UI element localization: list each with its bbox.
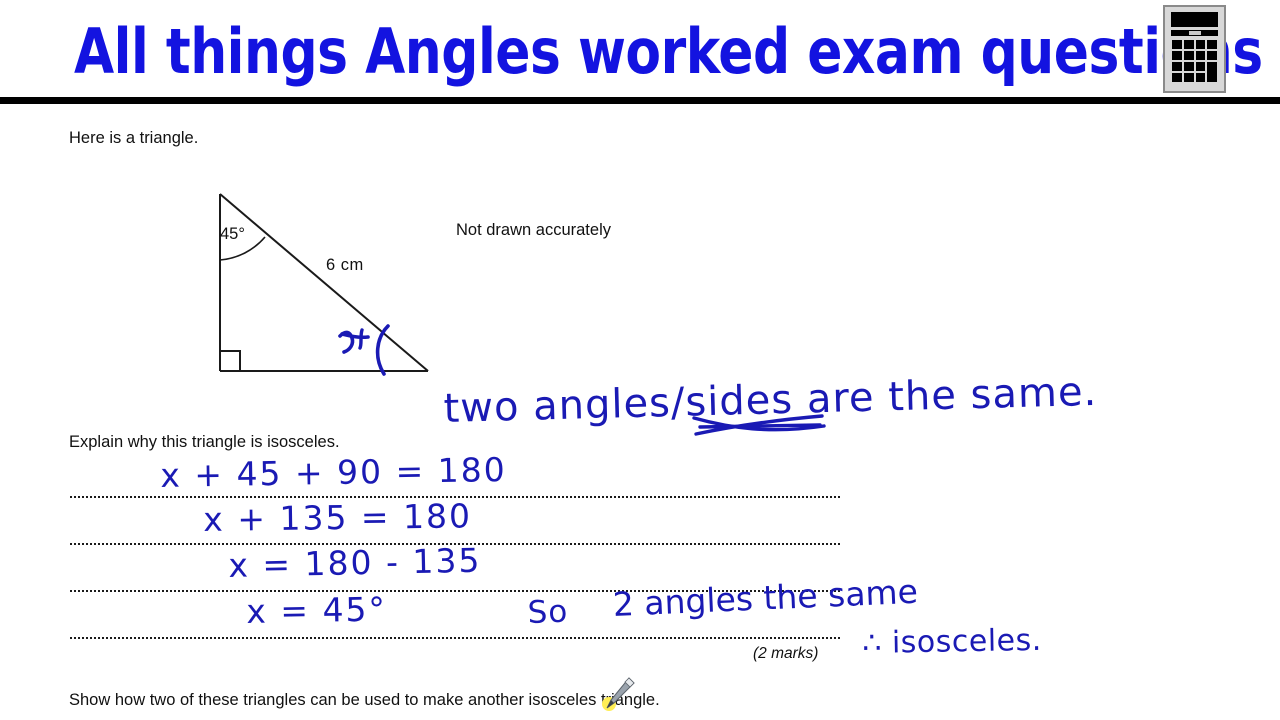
explain-prompt: Explain why this triangle is isosceles. bbox=[69, 433, 340, 452]
calculator-key bbox=[1196, 62, 1206, 71]
calculator-key bbox=[1184, 62, 1194, 71]
handwritten-therefore-isosceles: ∴ isosceles. bbox=[862, 623, 1042, 661]
calculator-key bbox=[1184, 51, 1194, 60]
side-label-6cm: 6 cm bbox=[326, 256, 364, 275]
calculator-key bbox=[1207, 40, 1217, 49]
right-angle-marker bbox=[220, 351, 240, 371]
calculator-key bbox=[1196, 51, 1206, 60]
calculator-display bbox=[1171, 12, 1218, 27]
calculator-key bbox=[1184, 40, 1194, 49]
handwritten-so: So bbox=[527, 594, 569, 631]
calculator-key bbox=[1172, 51, 1182, 60]
triangle-figure: 45° 6 cm bbox=[190, 175, 470, 390]
calculator-key bbox=[1172, 40, 1182, 49]
answer-line bbox=[70, 637, 840, 639]
page-title: All things Angles worked exam questions bbox=[74, 14, 1069, 90]
handwritten-strikeout bbox=[690, 414, 830, 440]
calculator-keypad bbox=[1172, 40, 1217, 82]
triangle-svg bbox=[190, 175, 470, 390]
handwritten-working-line-3: x = 180 - 135 bbox=[228, 541, 482, 585]
calculator-solar-strip bbox=[1171, 30, 1218, 36]
calculator-key bbox=[1207, 51, 1217, 60]
handwritten-conclusion: 2 angles the same bbox=[612, 572, 919, 624]
slide-header: All things Angles worked exam questions bbox=[0, 0, 1280, 100]
calculator-key bbox=[1196, 40, 1206, 49]
calculator-key-enter bbox=[1207, 62, 1217, 82]
handwritten-working-line-1: x + 45 + 90 = 180 bbox=[160, 450, 507, 495]
calculator-icon bbox=[1163, 5, 1226, 93]
handwritten-x-angle-marker bbox=[336, 320, 400, 391]
header-divider bbox=[0, 97, 1280, 104]
handwritten-working-line-4: x = 45° bbox=[246, 590, 387, 631]
handwritten-working-line-2: x + 135 = 180 bbox=[203, 496, 472, 539]
calculator-key bbox=[1196, 73, 1206, 82]
angle-label-45: 45° bbox=[220, 225, 245, 244]
intro-text: Here is a triangle. bbox=[69, 129, 198, 148]
marks-label: (2 marks) bbox=[753, 645, 818, 663]
not-drawn-accurately-note: Not drawn accurately bbox=[456, 221, 611, 240]
calculator-key bbox=[1184, 73, 1194, 82]
calculator-key bbox=[1172, 73, 1182, 82]
followup-prompt: Show how two of these triangles can be u… bbox=[69, 691, 660, 710]
calculator-key bbox=[1172, 62, 1182, 71]
